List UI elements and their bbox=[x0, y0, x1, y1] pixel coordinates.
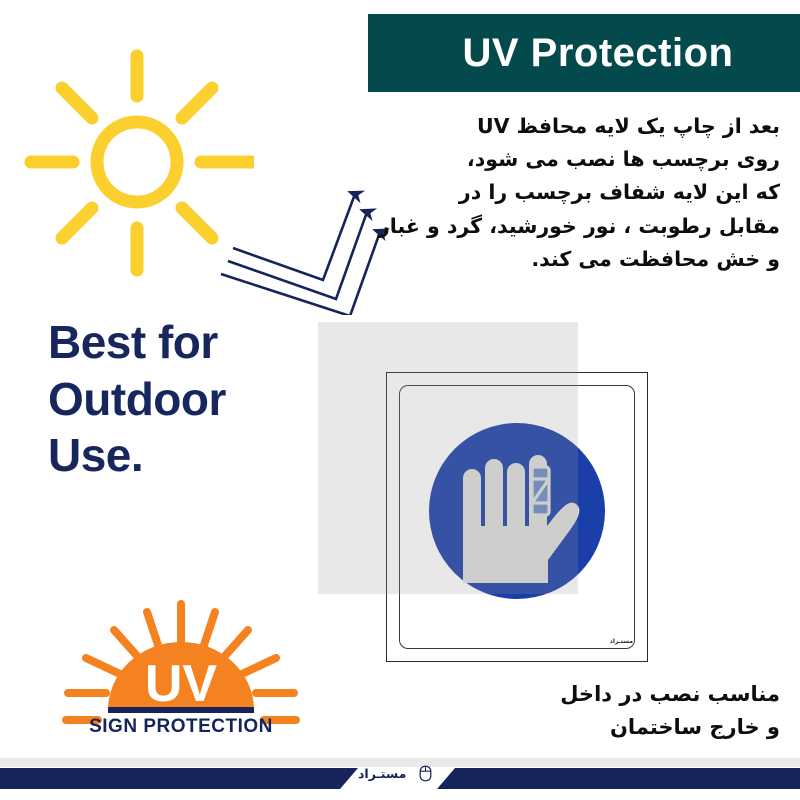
bottom-caption: مناسب نصب در داخل و خارج ساختمان bbox=[440, 678, 780, 743]
header-banner: UV Protection bbox=[368, 14, 800, 92]
protective-gloves-sign-icon bbox=[417, 411, 617, 611]
caption-line: مناسب نصب در داخل bbox=[440, 678, 780, 711]
headline-line: Use. bbox=[48, 427, 328, 484]
footer-bar: مستـراد bbox=[0, 758, 800, 800]
headline-line: Outdoor bbox=[48, 371, 328, 428]
mouse-icon bbox=[418, 765, 433, 782]
uv-sign-protection-logo: UV SIGN PROTECTION bbox=[52, 600, 310, 750]
description-line: مقابل رطوبت ، نور خورشید، گرد و غبار bbox=[360, 210, 780, 243]
sign-plate: مستـراد bbox=[386, 372, 648, 662]
description-paragraph: بعد از چاپ یک لایه محافظ UV روی برچسب ها… bbox=[360, 110, 780, 276]
page-title: UV Protection bbox=[435, 33, 734, 73]
uv-logo-letters: UV bbox=[145, 655, 218, 713]
headline-line: Best for bbox=[48, 314, 328, 371]
description-line: روی برچسب ها نصب می شود، bbox=[360, 143, 780, 176]
description-line: که این لایه شفاف برچسب را در bbox=[360, 176, 780, 209]
caption-line: و خارج ساختمان bbox=[440, 711, 780, 744]
poster-canvas: UV Protection بعد از چاپ یک لایه محافظ U… bbox=[0, 0, 800, 800]
sign-mockup: مستـراد bbox=[318, 322, 650, 670]
sign-watermark: مستـراد bbox=[610, 638, 633, 645]
headline: Best for Outdoor Use. bbox=[48, 314, 328, 484]
description-line: و خش محافظت می کند. bbox=[360, 243, 780, 276]
description-line: بعد از چاپ یک لایه محافظ UV bbox=[360, 110, 780, 143]
uv-logo-tagline: SIGN PROTECTION bbox=[89, 716, 273, 737]
footer-brand-text: مستـراد bbox=[358, 766, 406, 781]
